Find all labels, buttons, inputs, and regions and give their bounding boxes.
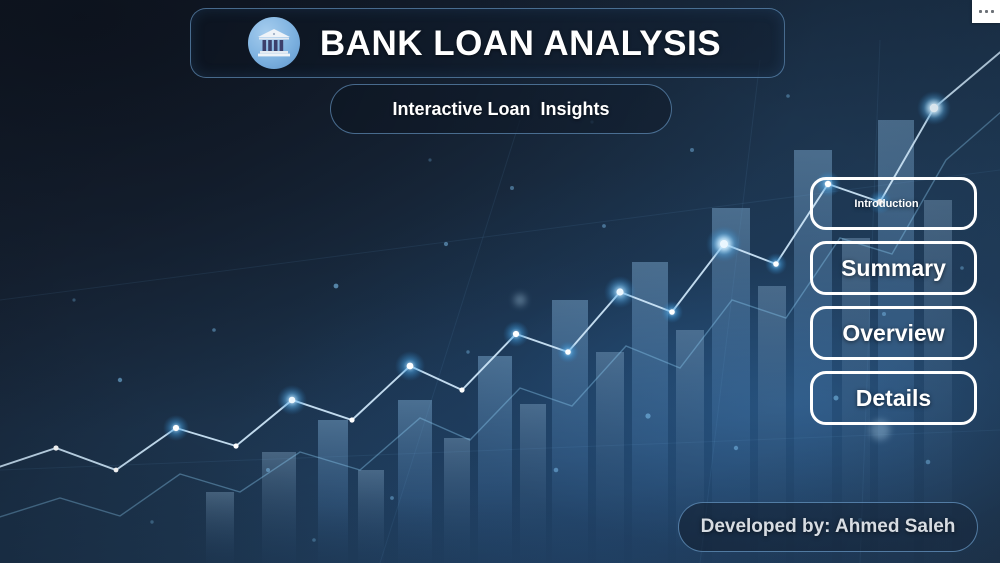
subtitle-banner: Interactive Loan Insights [330,84,672,134]
page-title: BANK LOAN ANALYSIS [247,26,784,61]
navigation-buttons: Introduction Summary Overview Details [810,177,977,436]
nav-button-summary-label: Summary [841,255,946,282]
presentation-slide: BANK LOAN ANALYSIS Interactive Loan Insi… [0,0,1000,563]
more-dot [985,10,988,13]
nav-button-summary[interactable]: Summary [810,241,977,295]
more-dot [979,10,982,13]
more-options-icon[interactable] [972,0,1000,23]
credit-banner: Developed by: Ahmed Saleh [678,502,978,552]
more-dot [991,10,994,13]
developer-credit: Developed by: Ahmed Saleh [701,516,956,538]
nav-button-introduction[interactable]: Introduction [810,177,977,230]
nav-button-overview-label: Overview [842,320,944,347]
nav-button-details[interactable]: Details [810,371,977,425]
nav-button-details-label: Details [856,385,931,412]
nav-button-introduction-label: Introduction [854,198,932,210]
bank-building-icon [248,17,300,69]
page-subtitle: Interactive Loan Insights [392,99,609,120]
nav-button-overview[interactable]: Overview [810,306,977,360]
